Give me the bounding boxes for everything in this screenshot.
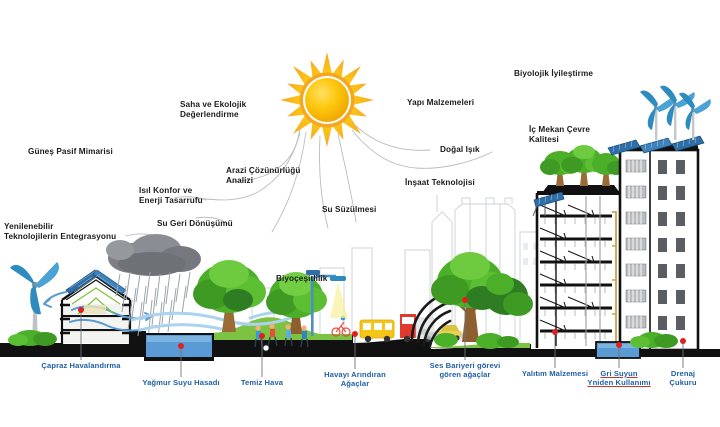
label-ic-mekan-cevre-kalitesi: İç Mekan Çevre Kalitesi bbox=[529, 125, 590, 144]
label-havayi-arindiran-agaclar: Havayı Arındıran Ağaçlar bbox=[324, 371, 386, 389]
label-yalitim-malzemesi: Yalıtım Malzemesi bbox=[522, 370, 588, 379]
label-drenaj-cukuru: Drenaj Çukuru bbox=[665, 370, 702, 388]
label-yenilenebilir-teknolojilerin-entegrasyonu: Yenilenebilir Teknolojilerin Entegrasyon… bbox=[4, 222, 116, 241]
label-su-suzulmesi: Su Süzülmesi bbox=[322, 205, 376, 215]
label-biyocesitlilik: Biyoçeşitlilik bbox=[276, 274, 327, 284]
label-arazi-cozunurlugu-analizi: Arazi Çözünürlüğü Analizi bbox=[226, 166, 300, 185]
label-ses-bariyeri-goren-agaclar: Ses Bariyeri görevi gören ağaçlar bbox=[430, 362, 501, 380]
label-saha-ve-ekolojik-degerlendirme: Saha ve Ekolojik Değerlendirme bbox=[180, 100, 246, 119]
label-biyolojik-iyilestirme: Biyolojik İyileştirme bbox=[514, 69, 593, 79]
label-capraz-havalandirma: Çapraz Havalandırma bbox=[41, 362, 120, 371]
hotspot-markers bbox=[78, 297, 686, 349]
label-insaat-teknolojisi: İnşaat Teknolojisi bbox=[405, 178, 475, 188]
label-gunes-pasif-mimarisi: Güneş Pasif Mimarisi bbox=[28, 147, 113, 157]
label-temiz-hava: Temiz Hava bbox=[241, 379, 283, 388]
label-isil-konfor-ve-enerji-tasarrufu: Isıl Konfor ve Enerji Tasarrufu bbox=[139, 186, 203, 205]
infographic-canvas: Güneş Pasif Mimarisi Yenilenebilir Tekno… bbox=[0, 0, 720, 427]
label-yapi-malzemeleri: Yapı Malzemeleri bbox=[407, 98, 474, 108]
label-yagmur-suyu-hasadi: Yağmur Suyu Hasadı bbox=[142, 379, 219, 388]
label-su-geri-donusumu: Su Geri Dönüşümü bbox=[157, 219, 233, 229]
label-dogal-isik: Doğal Işık bbox=[440, 145, 480, 155]
bottom-leader-lines bbox=[81, 300, 683, 377]
label-gri-suyun-yniden-kullanimi: Gri Suyun Yniden Kullanımı bbox=[587, 370, 650, 388]
